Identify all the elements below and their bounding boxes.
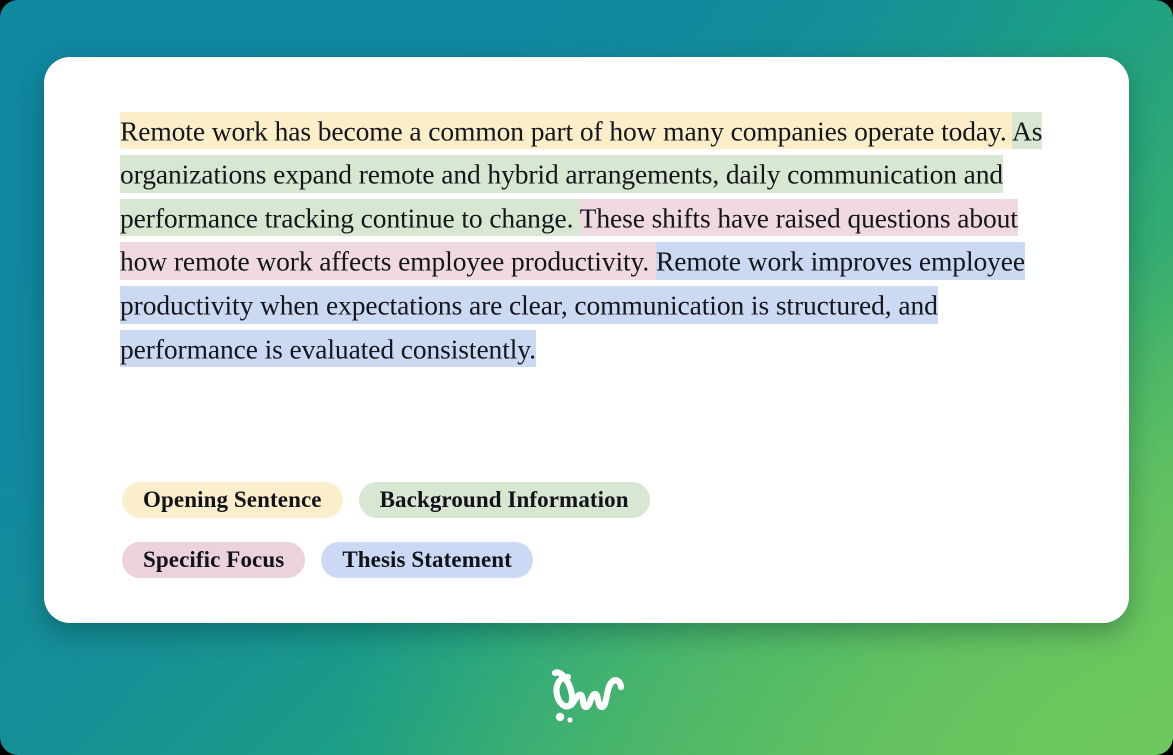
watermark-logo — [0, 661, 1173, 727]
logo-dot-large — [555, 713, 563, 721]
content-card: Remote work has become a common part of … — [44, 57, 1129, 623]
app-canvas: Remote work has become a common part of … — [0, 0, 1173, 755]
logo-dot-small — [567, 717, 572, 722]
highlight-opening-sentence[interactable]: Remote work has become a common part of … — [120, 112, 1012, 150]
legend: Opening Sentence Background Information … — [122, 482, 1062, 578]
legend-item-background-information[interactable]: Background Information — [359, 482, 650, 518]
legend-item-opening-sentence[interactable]: Opening Sentence — [122, 482, 343, 518]
legend-item-specific-focus[interactable]: Specific Focus — [122, 542, 305, 578]
legend-item-thesis-statement[interactable]: Thesis Statement — [321, 542, 533, 578]
handwritten-squiggle-logo-icon — [544, 661, 630, 727]
annotated-paragraph: Remote work has become a common part of … — [120, 109, 1055, 371]
